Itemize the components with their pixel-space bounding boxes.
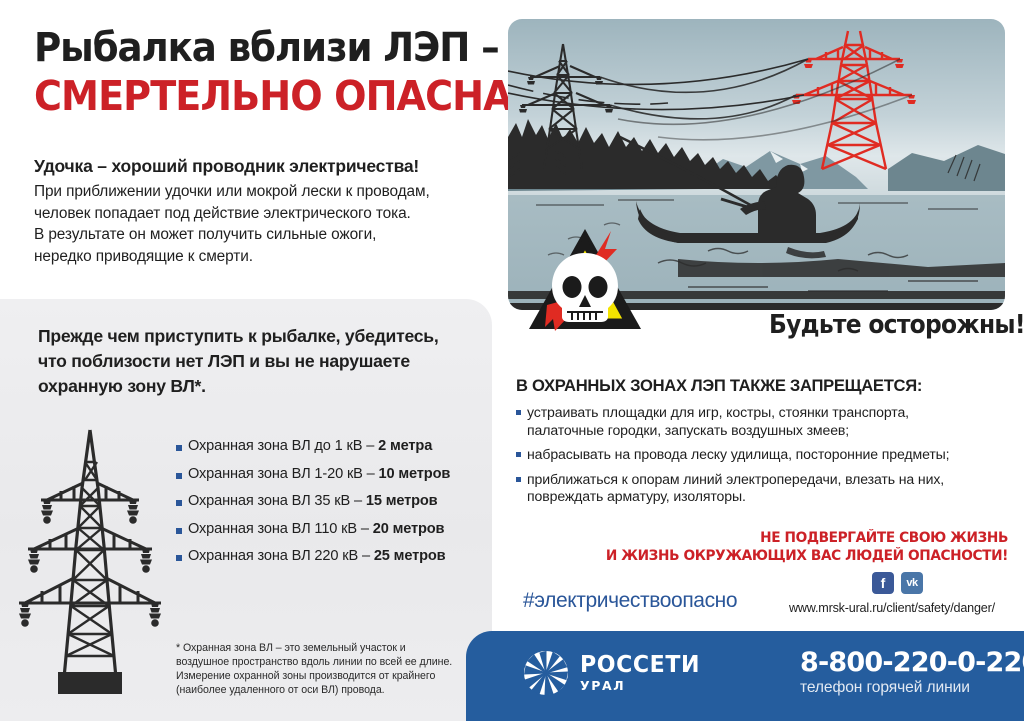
zone-label: Охранная зона ВЛ до 1 кВ – bbox=[188, 438, 378, 454]
prohibitions-list: устраивать площадки для игр, костры, сто… bbox=[516, 404, 1008, 513]
intro-line: При приближении удочки или мокрой лески … bbox=[34, 181, 496, 203]
list-item: устраивать площадки для игр, костры, сто… bbox=[516, 404, 1008, 439]
be-careful-caption: Будьте осторожны! bbox=[769, 310, 1024, 340]
bullet-icon bbox=[176, 473, 182, 479]
zone-label: Охранная зона ВЛ 1-20 кВ – bbox=[188, 466, 379, 482]
prohibition-line: палаточные городки, запускать воздушных … bbox=[527, 422, 909, 440]
prohibition-line: набрасывать на провода леску удилища, по… bbox=[527, 446, 949, 464]
prohibition-line: повреждать арматуру, изоляторы. bbox=[527, 488, 944, 506]
transmission-tower-icon bbox=[14, 428, 166, 696]
footnote-line: * Охранная зона ВЛ – это земельный участ… bbox=[176, 641, 476, 655]
list-item: Охранная зона ВЛ 110 кВ – 20 метров bbox=[176, 521, 486, 537]
protection-zone-heading: Прежде чем приступить к рыбалке, убедите… bbox=[38, 324, 478, 399]
protection-zone-list: Охранная зона ВЛ до 1 кВ – 2 метра Охран… bbox=[176, 438, 486, 576]
headline-line-1: Рыбалка вблизи ЛЭП – bbox=[34, 26, 462, 70]
bullet-icon bbox=[176, 555, 182, 561]
headline-line-2: СМЕРТЕЛЬНО ОПАСНА! bbox=[34, 73, 462, 119]
intro-paragraph: При приближении удочки или мокрой лески … bbox=[34, 181, 496, 267]
list-item: Охранная зона ВЛ до 1 кВ – 2 метра bbox=[176, 438, 486, 454]
list-item: набрасывать на провода леску удилища, по… bbox=[516, 446, 1008, 464]
hotline-number[interactable]: 8-800-220-0-220 bbox=[800, 648, 1024, 678]
prohibitions-title: В ОХРАННЫХ ЗОНАХ ЛЭП ТАКЖЕ ЗАПРЕЩАЕТСЯ: bbox=[516, 376, 1016, 396]
safety-poster: Рыбалка вблизи ЛЭП – СМЕРТЕЛЬНО ОПАСНА! … bbox=[0, 0, 1024, 721]
callout-line: НЕ ПОДВЕРГАЙТЕ СВОЮ ЖИЗНЬ bbox=[541, 529, 1008, 547]
footnote-line: Измерение охранной зоны производится от … bbox=[176, 669, 476, 683]
footnote-line: (наиболее удаленного от оси ВЛ) провода. bbox=[176, 683, 476, 697]
zone-label: Охранная зона ВЛ 110 кВ – bbox=[188, 521, 373, 537]
zone-value: 2 метра bbox=[378, 438, 432, 454]
footnote-line: воздушное пространство вдоль линии по вс… bbox=[176, 655, 476, 669]
rosseti-logo: РОССЕТИ УРАЛ bbox=[523, 650, 705, 696]
bullet-icon bbox=[176, 528, 182, 534]
prohibition-line: устраивать площадки для игр, костры, сто… bbox=[527, 404, 909, 422]
zone-value: 25 метров bbox=[374, 548, 446, 564]
hotline-block: 8-800-220-0-220 телефон горячей линии bbox=[800, 648, 1024, 698]
vkontakte-icon[interactable]: vk bbox=[901, 572, 923, 594]
heading-line: что поблизости нет ЛЭП и вы не нарушаете bbox=[38, 349, 478, 374]
list-item: приближаться к опорам линий электроперед… bbox=[516, 471, 1008, 506]
hotline-label: телефон горячей линии bbox=[800, 678, 1024, 698]
intro-line: нередко приводящие к смерти. bbox=[34, 246, 496, 268]
electrical-hazard-skull-icon bbox=[525, 223, 645, 338]
page-title: Рыбалка вблизи ЛЭП – СМЕРТЕЛЬНО ОПАСНА! bbox=[34, 26, 494, 119]
zone-value: 10 метров bbox=[379, 466, 451, 482]
bullet-icon bbox=[176, 445, 182, 451]
campaign-hashtag: #электричествоопасно bbox=[523, 589, 737, 613]
list-item: Охранная зона ВЛ 220 кВ – 25 метров bbox=[176, 548, 486, 564]
brand-region: УРАЛ bbox=[580, 678, 705, 693]
callout-line: И ЖИЗНЬ ОКРУЖАЮЩИХ ВАС ЛЮДЕЙ ОПАСНОСТИ! bbox=[541, 547, 1008, 565]
rosseti-emblem-icon bbox=[523, 650, 569, 696]
intro-line: В результате он может получить сильные о… bbox=[34, 224, 496, 246]
bullet-icon bbox=[516, 410, 521, 415]
heading-line: охранную зону ВЛ*. bbox=[38, 374, 478, 399]
website-url[interactable]: www.mrsk-ural.ru/client/safety/danger/ bbox=[789, 601, 995, 615]
list-item: Охранная зона ВЛ 35 кВ – 15 метров bbox=[176, 493, 486, 509]
zone-value: 15 метров bbox=[366, 493, 438, 509]
list-item: Охранная зона ВЛ 1-20 кВ – 10 метров bbox=[176, 466, 486, 482]
prohibition-line: приближаться к опорам линий электроперед… bbox=[527, 471, 944, 489]
intro-line: человек попадает под действие электричес… bbox=[34, 203, 496, 225]
danger-callout: НЕ ПОДВЕРГАЙТЕ СВОЮ ЖИЗНЬ И ЖИЗНЬ ОКРУЖА… bbox=[516, 529, 1008, 565]
facebook-icon[interactable]: f bbox=[872, 572, 894, 594]
zone-value: 20 метров bbox=[373, 521, 445, 537]
heading-line: Прежде чем приступить к рыбалке, убедите… bbox=[38, 324, 478, 349]
bullet-icon bbox=[516, 477, 521, 482]
intro-lead: Удочка – хороший проводник электричества… bbox=[34, 156, 489, 177]
zone-label: Охранная зона ВЛ 35 кВ – bbox=[188, 493, 366, 509]
bullet-icon bbox=[176, 500, 182, 506]
social-links[interactable]: f vk bbox=[872, 572, 923, 594]
brand-name: РОССЕТИ bbox=[580, 653, 700, 678]
footer-bar: РОССЕТИ УРАЛ 8-800-220-0-220 телефон гор… bbox=[466, 631, 1024, 721]
zone-label: Охранная зона ВЛ 220 кВ – bbox=[188, 548, 374, 564]
footnote: * Охранная зона ВЛ – это земельный участ… bbox=[176, 641, 476, 697]
bullet-icon bbox=[516, 452, 521, 457]
